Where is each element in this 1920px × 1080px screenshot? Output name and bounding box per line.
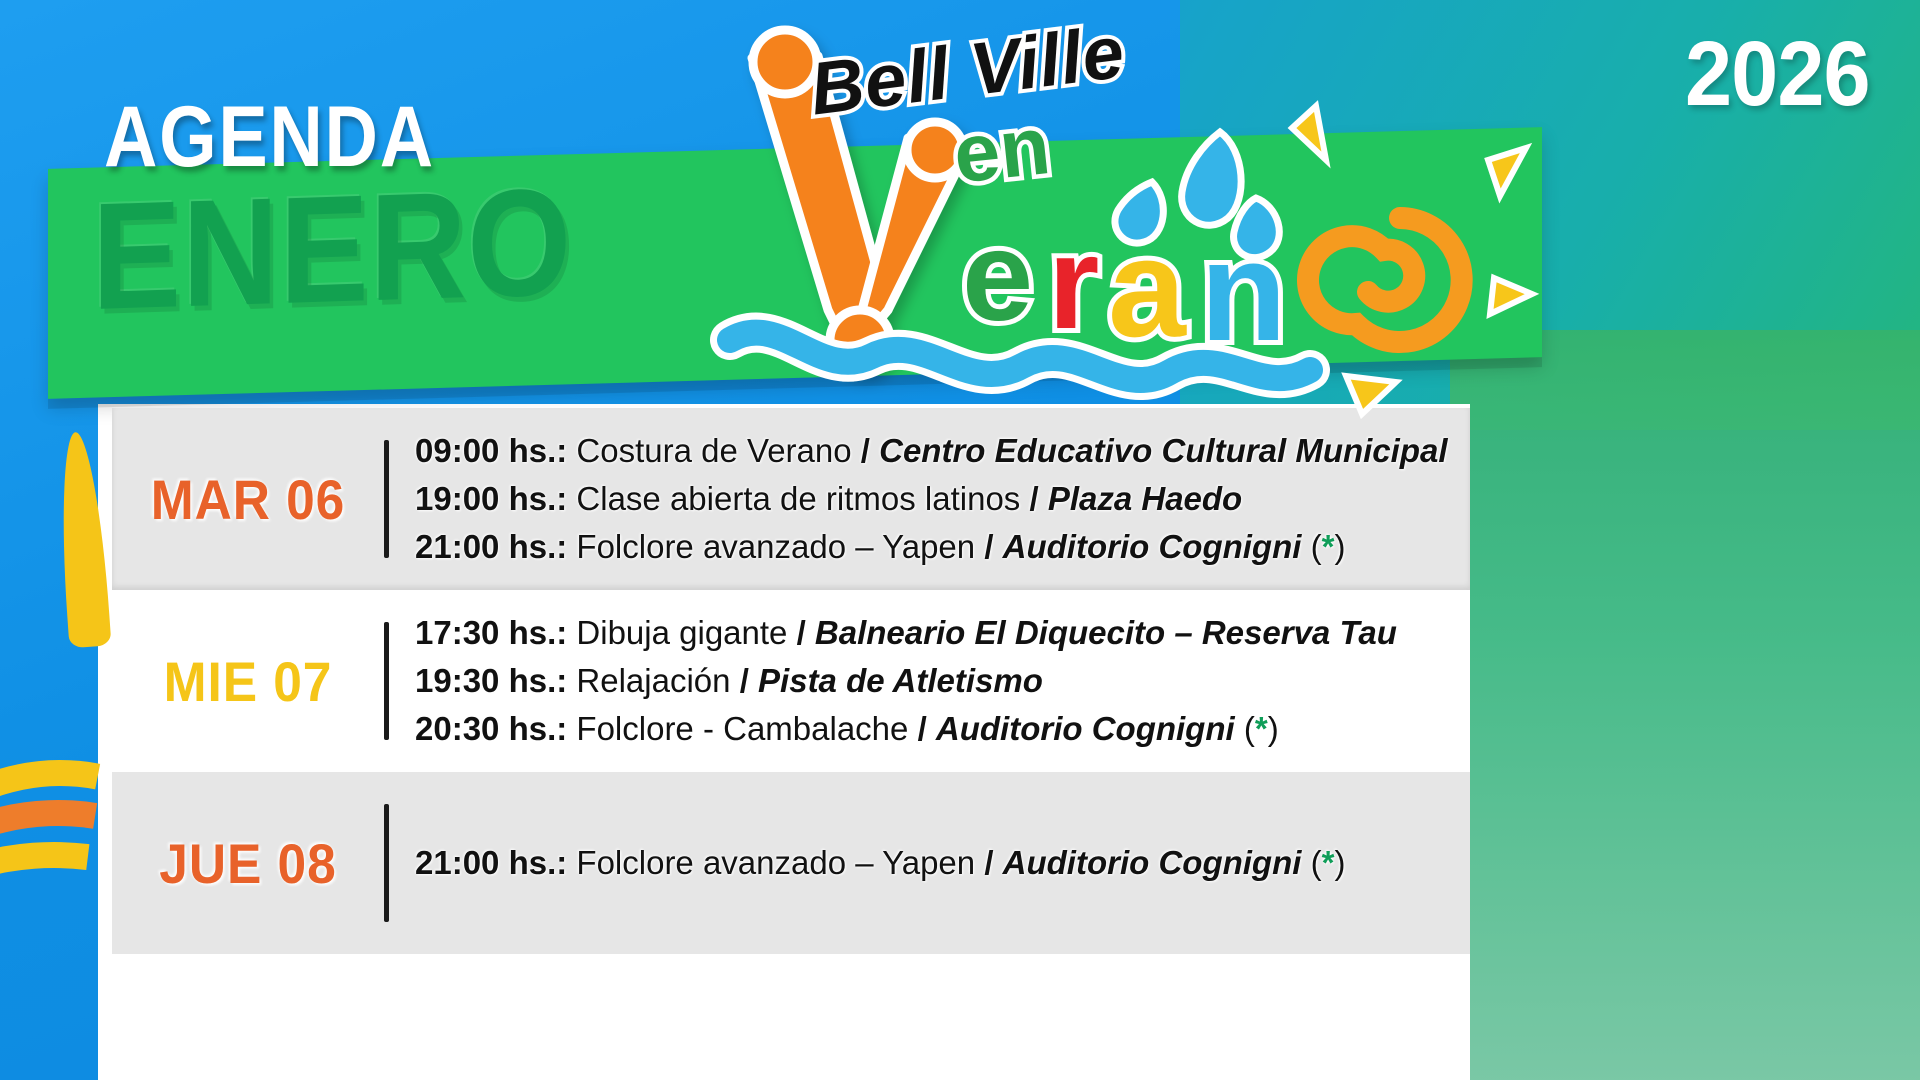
event-separator: / <box>1029 480 1047 517</box>
event-line: 17:30 hs.: Dibuja gigante / Balneario El… <box>415 609 1452 657</box>
svg-text:r: r <box>1048 209 1099 356</box>
event-venue: Centro Educativo Cultural Municipal <box>879 432 1447 469</box>
event-title: Clase abierta de ritmos latinos <box>567 480 1029 517</box>
event-list: 21:00 hs.: Folclore avanzado – Yapen / A… <box>415 839 1470 887</box>
event-list: 09:00 hs.: Costura de Verano / Centro Ed… <box>415 427 1470 571</box>
event-time: 17:30 hs.: <box>415 614 567 651</box>
event-title: Folclore avanzado – Yapen <box>567 528 984 565</box>
asterisk-marker: (*) <box>1301 528 1345 565</box>
event-line: 19:30 hs.: Relajación / Pista de Atletis… <box>415 657 1452 705</box>
event-title: Dibuja gigante <box>567 614 796 651</box>
day-label: MIE 07 <box>123 649 373 714</box>
event-separator: / <box>984 528 1002 565</box>
event-venue: Plaza Haedo <box>1048 480 1242 517</box>
event-time: 09:00 hs.: <box>415 432 567 469</box>
event-line: 20:30 hs.: Folclore - Cambalache / Audit… <box>415 705 1452 753</box>
event-separator: / <box>984 844 1002 881</box>
event-separator: / <box>918 710 936 747</box>
green-gradient-right <box>1450 330 1920 1080</box>
logo-text-en: en <box>949 100 1054 201</box>
event-venue: Balneario El Diquecito – Reserva Tau <box>815 614 1397 651</box>
event-title: Costura de Verano <box>567 432 861 469</box>
day-label: MAR 06 <box>123 467 373 532</box>
water-splash-icon <box>1115 132 1279 258</box>
month-title: ENERO <box>92 155 572 345</box>
event-line: 19:00 hs.: Clase abierta de ritmos latin… <box>415 475 1452 523</box>
row-divider <box>384 622 389 740</box>
schedule-row: MIE 0717:30 hs.: Dibuja gigante / Balnea… <box>112 590 1470 772</box>
event-title: Relajación <box>567 662 739 699</box>
svg-text:en: en <box>949 100 1054 201</box>
asterisk-marker: (*) <box>1301 844 1345 881</box>
row-divider <box>384 440 389 558</box>
event-separator: / <box>861 432 879 469</box>
bell-ville-en-verano-logo: Bell Ville en e r a n <box>700 10 1540 420</box>
event-time: 21:00 hs.: <box>415 528 567 565</box>
asterisk-marker: (*) <box>1235 710 1279 747</box>
schedule-list: MAR 0609:00 hs.: Costura de Verano / Cen… <box>112 408 1470 1080</box>
event-title: Folclore avanzado – Yapen <box>567 844 984 881</box>
event-time: 21:00 hs.: <box>415 844 567 881</box>
event-venue: Auditorio Cognigni <box>1003 528 1302 565</box>
svg-text:e: e <box>962 205 1033 348</box>
schedule-row: MAR 0609:00 hs.: Costura de Verano / Cen… <box>112 408 1470 590</box>
event-venue: Pista de Atletismo <box>758 662 1043 699</box>
event-separator: / <box>797 614 815 651</box>
event-time: 20:30 hs.: <box>415 710 567 747</box>
event-title: Folclore - Cambalache <box>567 710 917 747</box>
sun-spiral-icon <box>1308 218 1462 342</box>
event-line: 21:00 hs.: Folclore avanzado – Yapen / A… <box>415 839 1452 887</box>
year-label: 2026 <box>1685 22 1870 127</box>
event-line: 21:00 hs.: Folclore avanzado – Yapen / A… <box>415 523 1452 571</box>
schedule-row: JUE 0821:00 hs.: Folclore avanzado – Yap… <box>112 772 1470 954</box>
event-separator: / <box>740 662 758 699</box>
event-time: 19:00 hs.: <box>415 480 567 517</box>
event-list: 17:30 hs.: Dibuja gigante / Balneario El… <box>415 609 1470 753</box>
event-time: 19:30 hs.: <box>415 662 567 699</box>
row-divider <box>384 804 389 922</box>
event-venue: Auditorio Cognigni <box>936 710 1235 747</box>
event-venue: Auditorio Cognigni <box>1003 844 1302 881</box>
event-line: 09:00 hs.: Costura de Verano / Centro Ed… <box>415 427 1452 475</box>
day-label: JUE 08 <box>123 831 373 896</box>
